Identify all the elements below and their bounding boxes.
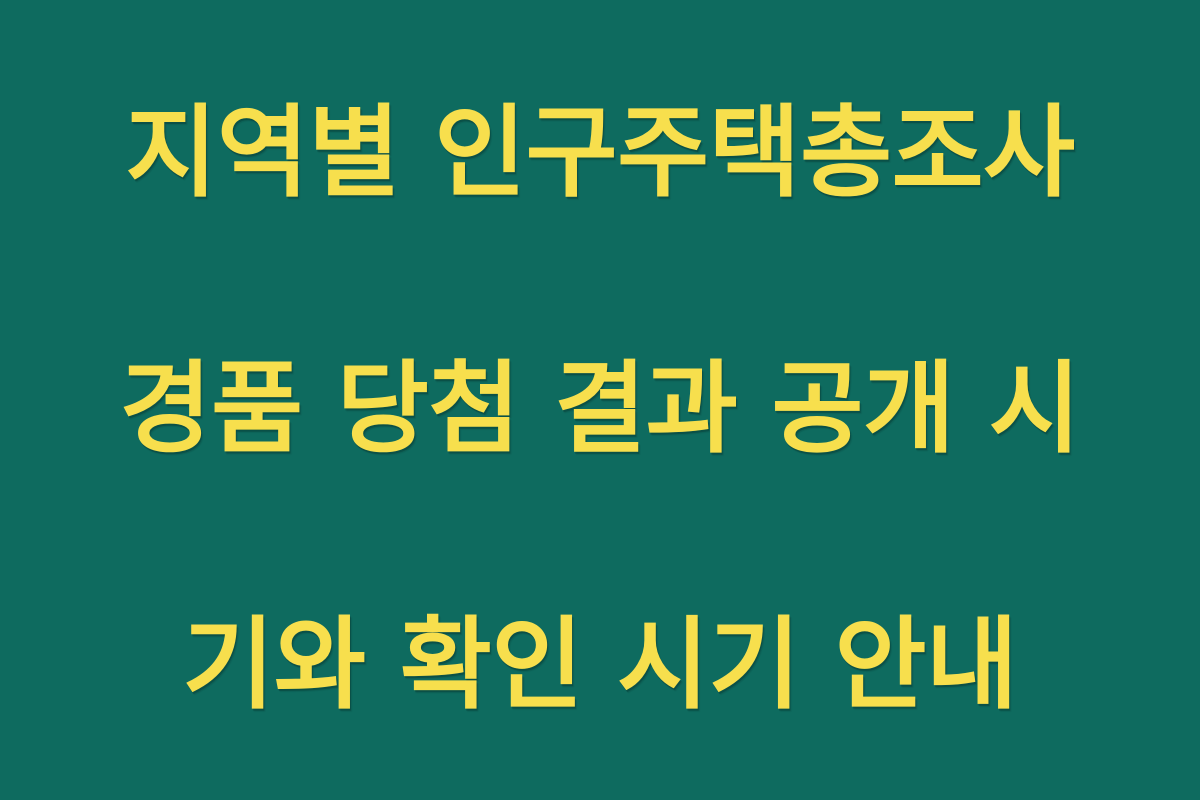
headline-line-3: 기와 확인 시기 안내 <box>70 601 1130 729</box>
page-title: 지역별 인구주택총조사 경품 당첨 결과 공개 시 기와 확인 시기 안내 <box>70 0 1130 800</box>
headline-line-2: 경품 당첨 결과 공개 시 <box>70 345 1130 473</box>
banner-card: 지역별 인구주택총조사 경품 당첨 결과 공개 시 기와 확인 시기 안내 <box>0 0 1200 800</box>
headline-line-1: 지역별 인구주택총조사 <box>70 89 1130 217</box>
